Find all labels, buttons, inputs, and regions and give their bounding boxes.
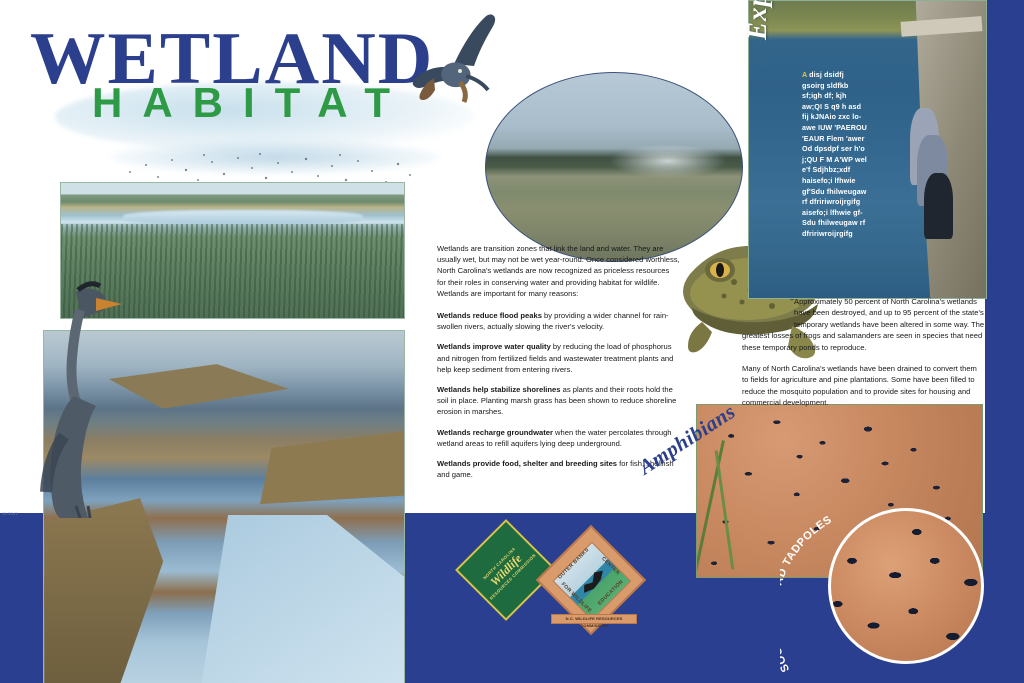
exploration-greek-copy: disj dsidfj gsoirg sldfkb sf;igh df; kjh… bbox=[802, 70, 867, 238]
point-2-bold: Wetlands improve water quality bbox=[437, 342, 551, 351]
frog-text-wrap-spacer bbox=[742, 296, 794, 320]
point-paragraph-2: Wetlands improve water quality by reduci… bbox=[437, 341, 680, 375]
magnified-tadpole-specks bbox=[828, 508, 984, 664]
right-text-column: Approximately 50 percent of North Caroli… bbox=[742, 296, 985, 419]
marsh-reed-bank-far bbox=[109, 359, 289, 408]
right-edge-blue-band bbox=[985, 0, 1024, 520]
obx-arc-top-right: CENTER bbox=[600, 556, 621, 577]
svg-text:FOR WILDLIFE: FOR WILDLIFE bbox=[560, 581, 593, 614]
svg-text:OUTER BANKS: OUTER BANKS bbox=[557, 547, 591, 581]
child-sitting bbox=[924, 173, 952, 238]
point-paragraph-1: Wetlands reduce flood peaks by providing… bbox=[437, 310, 680, 332]
obx-logo-caption: N.C. WILDLIFE RESOURCES COMMISSION bbox=[551, 614, 637, 624]
obx-arc-bottom-right: EDUCATION bbox=[597, 579, 625, 607]
marsh-reed-bank-right bbox=[260, 423, 404, 508]
exploration-body-text: A disj dsidfj gsoirg sldfkb sf;igh df; k… bbox=[802, 70, 868, 240]
svg-text:CENTER: CENTER bbox=[600, 556, 621, 577]
right-paragraph-1: Approximately 50 percent of North Caroli… bbox=[742, 296, 985, 353]
obx-arc-top-left: OUTER BANKS bbox=[557, 547, 591, 581]
obx-ring-text: OUTER BANKS CENTER FOR WILDLIFE EDUCATIO… bbox=[552, 541, 630, 619]
point-paragraph-4: Wetlands recharge groundwater when the w… bbox=[437, 427, 680, 449]
wrc-logo-text: NORTH CAROLINA Wildlife RESOURCES COMMIS… bbox=[455, 519, 557, 621]
intro-paragraph: Wetlands are transition zones that link … bbox=[437, 243, 680, 299]
exploration-dropcap: A bbox=[802, 70, 807, 79]
point-5-bold: Wetlands provide food, shelter and breed… bbox=[437, 459, 617, 468]
nc-wildlife-resources-commission-logo[interactable]: NORTH CAROLINA Wildlife RESOURCES COMMIS… bbox=[470, 534, 542, 606]
point-paragraph-3: Wetlands help stabilize shorelines as pl… bbox=[437, 384, 680, 418]
point-3-bold: Wetlands help stabilize shorelines bbox=[437, 385, 561, 394]
obx-arc-bottom-left: FOR WILDLIFE bbox=[560, 581, 593, 614]
great-blue-heron-cutout bbox=[18, 268, 128, 518]
wetland-habitat-poster: WETLAND HABITAT bbox=[0, 0, 1024, 683]
point-4-bold: Wetlands recharge groundwater bbox=[437, 428, 553, 437]
right-paragraph-2: Many of North Carolina's wetlands have b… bbox=[742, 363, 985, 409]
point-1-bold: Wetlands reduce flood peaks bbox=[437, 311, 542, 320]
exploration-heading: Exploration! bbox=[742, 0, 782, 40]
creek-water bbox=[188, 515, 405, 683]
svg-text:EDUCATION: EDUCATION bbox=[597, 579, 625, 607]
outer-banks-center-logo[interactable]: OUTER BANKS CENTER FOR WILDLIFE EDUCATIO… bbox=[552, 541, 630, 619]
field-haze bbox=[609, 144, 727, 178]
bottom-left-credit: 11-3541 bbox=[2, 511, 18, 516]
osprey-in-flight-cutout bbox=[404, 12, 514, 117]
tadpole-magnifier-circle bbox=[828, 508, 984, 664]
obx-caption-text: N.C. WILDLIFE RESOURCES COMMISSION bbox=[552, 615, 636, 629]
